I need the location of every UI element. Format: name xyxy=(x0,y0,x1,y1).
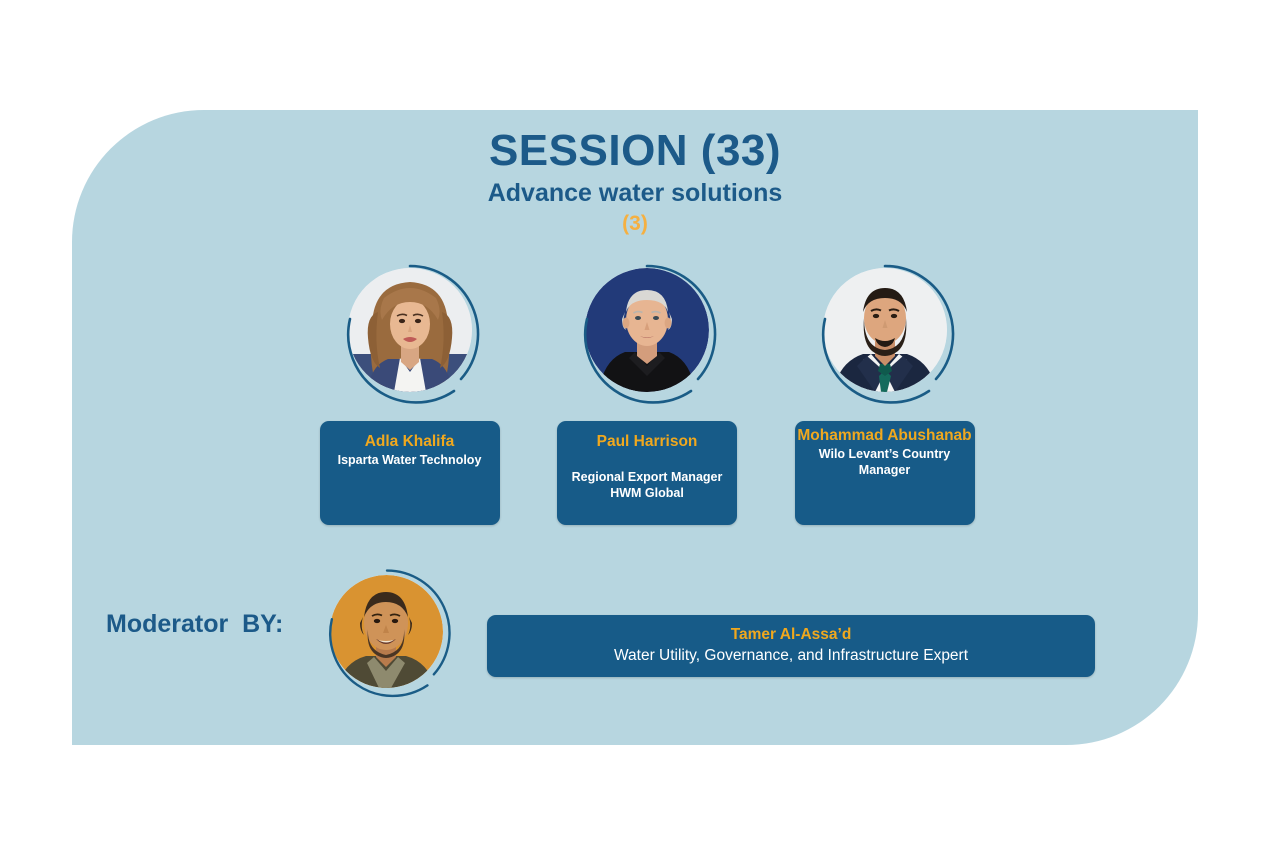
speaker-role: Isparta Water Technoloy xyxy=(320,452,500,468)
portrait-photo xyxy=(585,268,709,392)
moderator-role: Water Utility, Governance, and Infrastru… xyxy=(614,646,968,667)
speaker-card-2: Paul Harrison Regional Export Manager HW… xyxy=(555,260,740,525)
avatar-paul-harrison xyxy=(573,260,721,408)
avatar-adla-khalifa xyxy=(336,260,484,408)
slide-panel: SESSION (33) Advance water solutions (3) xyxy=(72,110,1198,745)
speaker-role: Wilo Levant’s Country Manager xyxy=(795,446,975,478)
moderator-label: Moderator BY: xyxy=(106,610,283,639)
page-subtitle: Advance water solutions xyxy=(72,178,1198,209)
speaker-name: Paul Harrison xyxy=(557,433,737,451)
portrait-photo xyxy=(330,575,443,688)
portrait-photo xyxy=(348,268,472,392)
speaker-name-card: Paul Harrison Regional Export Manager HW… xyxy=(557,421,737,525)
session-number: (3) xyxy=(72,211,1198,237)
moderator-name-card: Tamer Al-Assa’d Water Utility, Governanc… xyxy=(487,615,1095,677)
speaker-card-3: Mohammad Abushanab Wilo Levant’s Country… xyxy=(792,260,977,525)
speaker-role: Regional Export Manager HWM Global xyxy=(557,469,737,501)
moderator-row: Moderator BY: xyxy=(72,565,1198,695)
speaker-name: Adla Khalifa xyxy=(320,433,500,451)
speaker-name: Mohammad Abushanab xyxy=(787,427,983,445)
speaker-name-card: Mohammad Abushanab Wilo Levant’s Country… xyxy=(795,421,975,525)
speaker-name-card: Adla Khalifa Isparta Water Technoloy xyxy=(320,421,500,525)
speakers-row: Adla Khalifa Isparta Water Technoloy xyxy=(317,260,977,525)
slide-header: SESSION (33) Advance water solutions (3) xyxy=(72,128,1198,238)
portrait-photo xyxy=(823,268,947,392)
moderator-name: Tamer Al-Assa’d xyxy=(731,625,852,645)
speaker-card-1: Adla Khalifa Isparta Water Technoloy xyxy=(317,260,502,525)
avatar-mohammad-abushanab xyxy=(811,260,959,408)
avatar-tamer-al-assad xyxy=(319,565,459,695)
page-title: SESSION (33) xyxy=(72,128,1198,174)
